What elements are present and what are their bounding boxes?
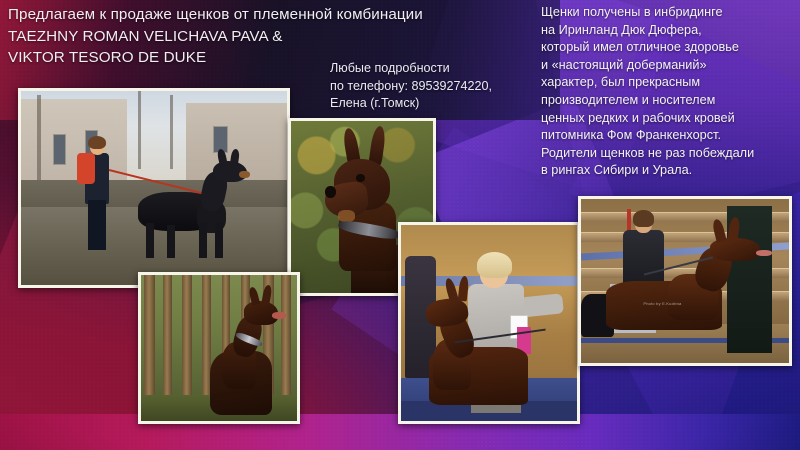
dog-tongue	[272, 312, 286, 319]
description-text: Щенки получены в инбридинге на Иринланд …	[541, 4, 800, 180]
handler-hair	[88, 136, 107, 150]
description-line-5: характер, был прекрасным	[541, 74, 800, 92]
handler-legs	[88, 200, 107, 250]
photo-content	[141, 275, 297, 421]
headline-line-1: Предлагаем к продаже щенков от племенной…	[8, 4, 538, 26]
description-line-10: в рингах Сибири и Урала.	[541, 162, 800, 180]
contact-phone: по телефону: 89539274220,	[330, 78, 540, 96]
dog-eye	[356, 174, 365, 182]
description-line-4: и «настоящий доберманий»	[541, 57, 800, 75]
photo-content	[401, 225, 577, 421]
backpack	[77, 153, 96, 184]
contact-line-1: Любые подробности	[330, 60, 540, 78]
photo-show-ring-handler-red-doberman	[398, 222, 580, 424]
photo-watermark: Photo by E.Kudrina	[643, 301, 681, 306]
description-line-3: который имел отличное здоровье	[541, 39, 800, 57]
contact-info: Любые подробности по телефону: 895392742…	[330, 60, 540, 113]
photo-doberman-pine-forest	[138, 272, 300, 424]
tree-trunk	[37, 95, 41, 180]
spectator-hair	[633, 210, 654, 226]
page-title: Предлагаем к продаже щенков от племенной…	[8, 4, 538, 69]
contact-person: Елена (г.Томск)	[330, 95, 540, 113]
dog-leg	[167, 225, 175, 258]
window	[53, 134, 66, 165]
description-line-9: Родители щенков не раз побеждали	[541, 145, 800, 163]
description-line-8: питомника Фом Франкенхорст.	[541, 127, 800, 145]
photo-content: Photo by E.Kudrina	[581, 199, 789, 363]
dog-muzzle-marking	[239, 171, 250, 179]
description-line-1: Щенки получены в инбридинге	[541, 4, 800, 22]
dog-leg	[199, 223, 207, 258]
photo-content	[21, 91, 287, 285]
description-line-6: производителем и носителем	[541, 92, 800, 110]
photo-indoor-show-judge-red-doberman: Photo by E.Kudrina	[578, 196, 792, 366]
dog-leg	[146, 223, 154, 258]
dog-leg	[215, 223, 223, 258]
description-line-7: ценных редких и рабочих кровей	[541, 110, 800, 128]
photo-woman-walking-black-doberman	[18, 88, 290, 288]
handler-hair	[477, 252, 512, 277]
tree-trunk	[170, 95, 173, 169]
presentation-slide: Предлагаем к продаже щенков от племенной…	[0, 0, 800, 450]
tree-trunk	[138, 91, 141, 169]
description-line-2: на Иринланд Дюк Дюфера,	[541, 22, 800, 40]
headline-line-2: TAEZHNY ROMAN VELICHAVA PAVA &	[8, 26, 538, 48]
